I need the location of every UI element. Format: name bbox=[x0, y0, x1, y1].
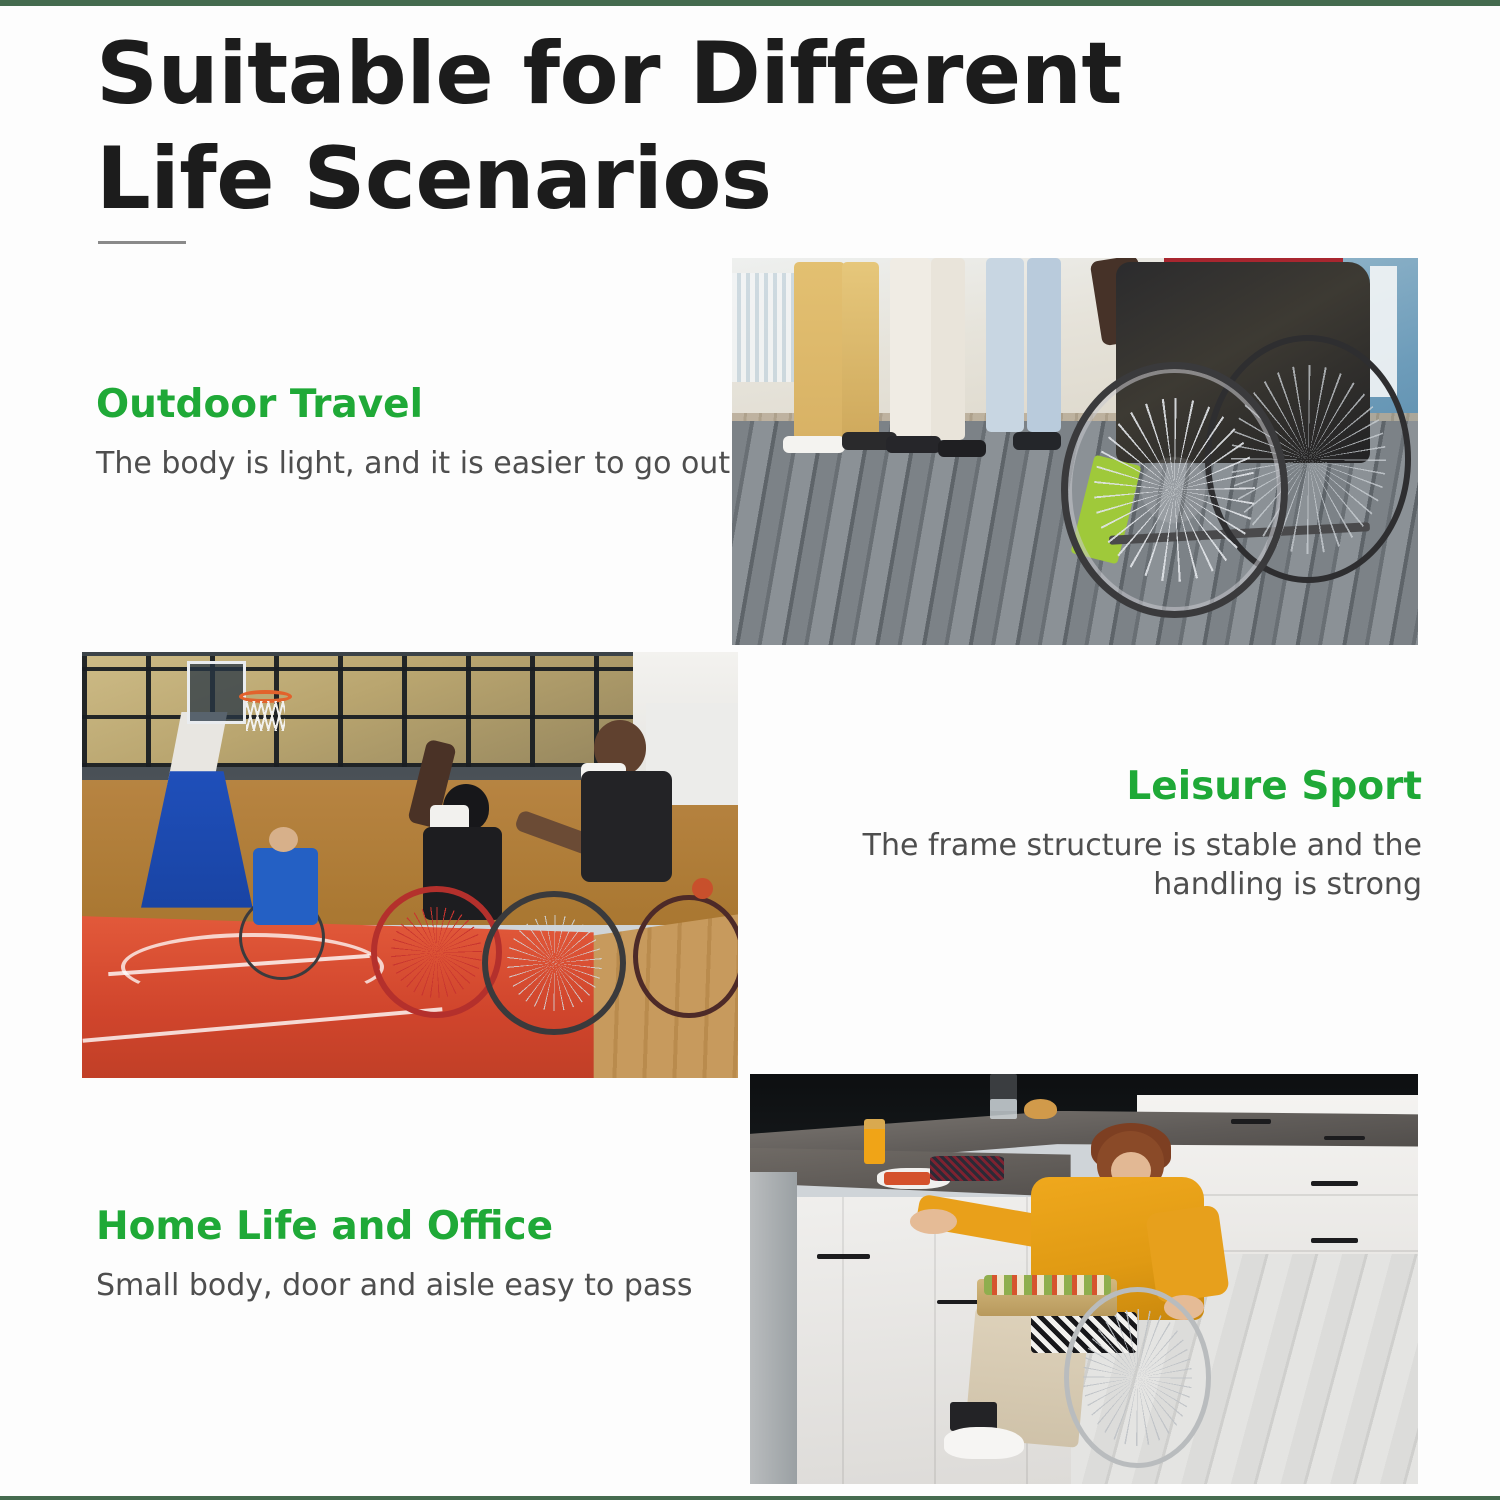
scenarios-page: Suitable for Different Life Scenarios Ou… bbox=[0, 0, 1500, 1500]
feature-title-leisure-sport: Leisure Sport bbox=[800, 763, 1422, 812]
pedestrian-leg bbox=[1027, 258, 1061, 432]
player-torso bbox=[253, 848, 319, 925]
pedestrian-shoe bbox=[1013, 432, 1061, 449]
tray-canapes bbox=[984, 1275, 1111, 1296]
woman-right-arm bbox=[1145, 1205, 1230, 1305]
wheelchair-kitchen-photo: Woman in a wheelchair holding a tray of … bbox=[750, 1074, 1418, 1484]
pedestrian-leg bbox=[794, 262, 845, 440]
croissant bbox=[1024, 1099, 1057, 1120]
cabinet-handle bbox=[1231, 1119, 1271, 1124]
woman-left-hand bbox=[910, 1209, 957, 1234]
toast-with-topping bbox=[884, 1172, 931, 1184]
pedestrian-shoe bbox=[886, 436, 941, 453]
cabinet-handle bbox=[1311, 1238, 1358, 1243]
cabinet-handle bbox=[1311, 1181, 1358, 1186]
pedestrian-shoe bbox=[783, 436, 845, 453]
hoop-net bbox=[246, 701, 285, 731]
feature-block-leisure-sport: Leisure Sport The frame structure is sta… bbox=[800, 763, 1422, 905]
wheelchair-basketball-photo: Wheelchair basketball players on an indo… bbox=[82, 652, 738, 1078]
pedestrian-leg bbox=[842, 262, 880, 440]
feature-block-outdoor-travel: Outdoor Travel The body is light, and it… bbox=[96, 381, 736, 483]
backboard bbox=[187, 661, 246, 725]
player-wheel bbox=[633, 895, 738, 1019]
woman-shoe bbox=[944, 1427, 1024, 1460]
juice-bottle bbox=[864, 1119, 885, 1164]
boardwalk-scene bbox=[732, 258, 1418, 645]
wheelchair-wheel bbox=[1064, 1287, 1211, 1467]
title-divider bbox=[98, 241, 186, 244]
feature-title-home-life-and-office: Home Life and Office bbox=[96, 1203, 736, 1252]
pedestrian-leg bbox=[986, 258, 1024, 432]
player-wheel bbox=[482, 891, 626, 1036]
refrigerator bbox=[750, 1172, 797, 1484]
player-torso bbox=[581, 771, 673, 882]
pedestrian-leg bbox=[890, 258, 931, 440]
feature-description-home-life-and-office: Small body, door and aisle easy to pass bbox=[96, 1266, 736, 1306]
feature-title-outdoor-travel: Outdoor Travel bbox=[96, 381, 736, 430]
feature-description-leisure-sport: The frame structure is stable and the ha… bbox=[800, 826, 1422, 905]
wheelchair-front-wheel bbox=[1061, 362, 1287, 617]
basketball bbox=[692, 878, 713, 899]
pedestrian-leg bbox=[931, 258, 965, 440]
feature-block-home-life-and-office: Home Life and Office Small body, door an… bbox=[96, 1203, 736, 1305]
bottom-accent-rule bbox=[0, 1496, 1500, 1500]
feature-description-outdoor-travel: The body is light, and it is easier to g… bbox=[96, 444, 736, 484]
page-title: Suitable for Different Life Scenarios bbox=[96, 22, 1276, 232]
cabinet-handle bbox=[1324, 1136, 1364, 1141]
berry-bowl bbox=[930, 1156, 1003, 1181]
pedestrian-shoe bbox=[938, 440, 986, 457]
kitchen-scene bbox=[750, 1074, 1418, 1484]
wheelchair-on-boardwalk-photo: Person in a wheelchair on a seaside boar… bbox=[732, 258, 1418, 645]
drinking-glass bbox=[990, 1099, 1017, 1120]
top-accent-rule bbox=[0, 0, 1500, 6]
railing-left bbox=[732, 273, 801, 381]
gym-scene bbox=[82, 652, 738, 1078]
cabinet-handle bbox=[817, 1254, 870, 1259]
